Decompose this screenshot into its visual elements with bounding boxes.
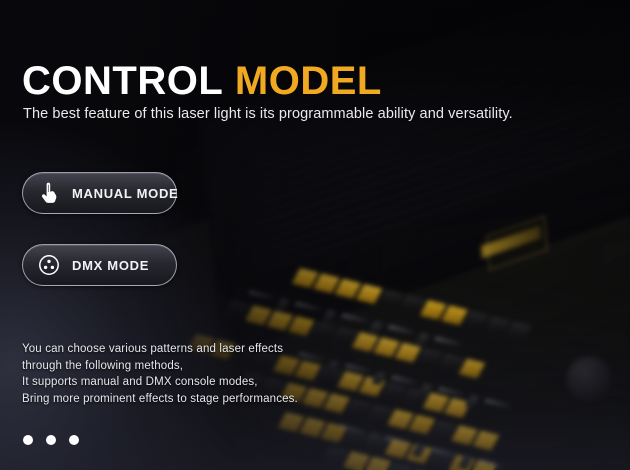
dmx-mode-label: DMX MODE <box>72 258 149 273</box>
dmx-connector-icon <box>34 250 64 280</box>
manual-mode-label: MANUAL MODE <box>72 186 178 201</box>
dmx-mode-button[interactable]: DMX MODE <box>22 244 177 286</box>
carousel-dot-2[interactable] <box>46 435 56 445</box>
hand-tap-icon <box>34 178 64 208</box>
description-line-1: You can choose various patterns and lase… <box>22 341 298 358</box>
description-line-3: It supports manual and DMX console modes… <box>22 374 298 391</box>
page-title-accent: MODEL <box>235 59 382 103</box>
page-title-main: CONTROL <box>22 59 223 103</box>
description-line-4: Bring more prominent effects to stage pe… <box>22 391 298 408</box>
carousel-dot-3[interactable] <box>69 435 79 445</box>
description-line-2: through the following methods, <box>22 358 298 375</box>
carousel-indicators <box>23 435 79 445</box>
slide-banner: CONTROL MODEL The best feature of this l… <box>0 0 630 470</box>
manual-mode-button[interactable]: MANUAL MODE <box>22 172 177 214</box>
carousel-dot-1[interactable] <box>23 435 33 445</box>
page-title: CONTROL MODEL <box>22 57 382 105</box>
page-subtitle: The best feature of this laser light is … <box>23 106 513 122</box>
description-paragraph: You can choose various patterns and lase… <box>22 341 298 407</box>
